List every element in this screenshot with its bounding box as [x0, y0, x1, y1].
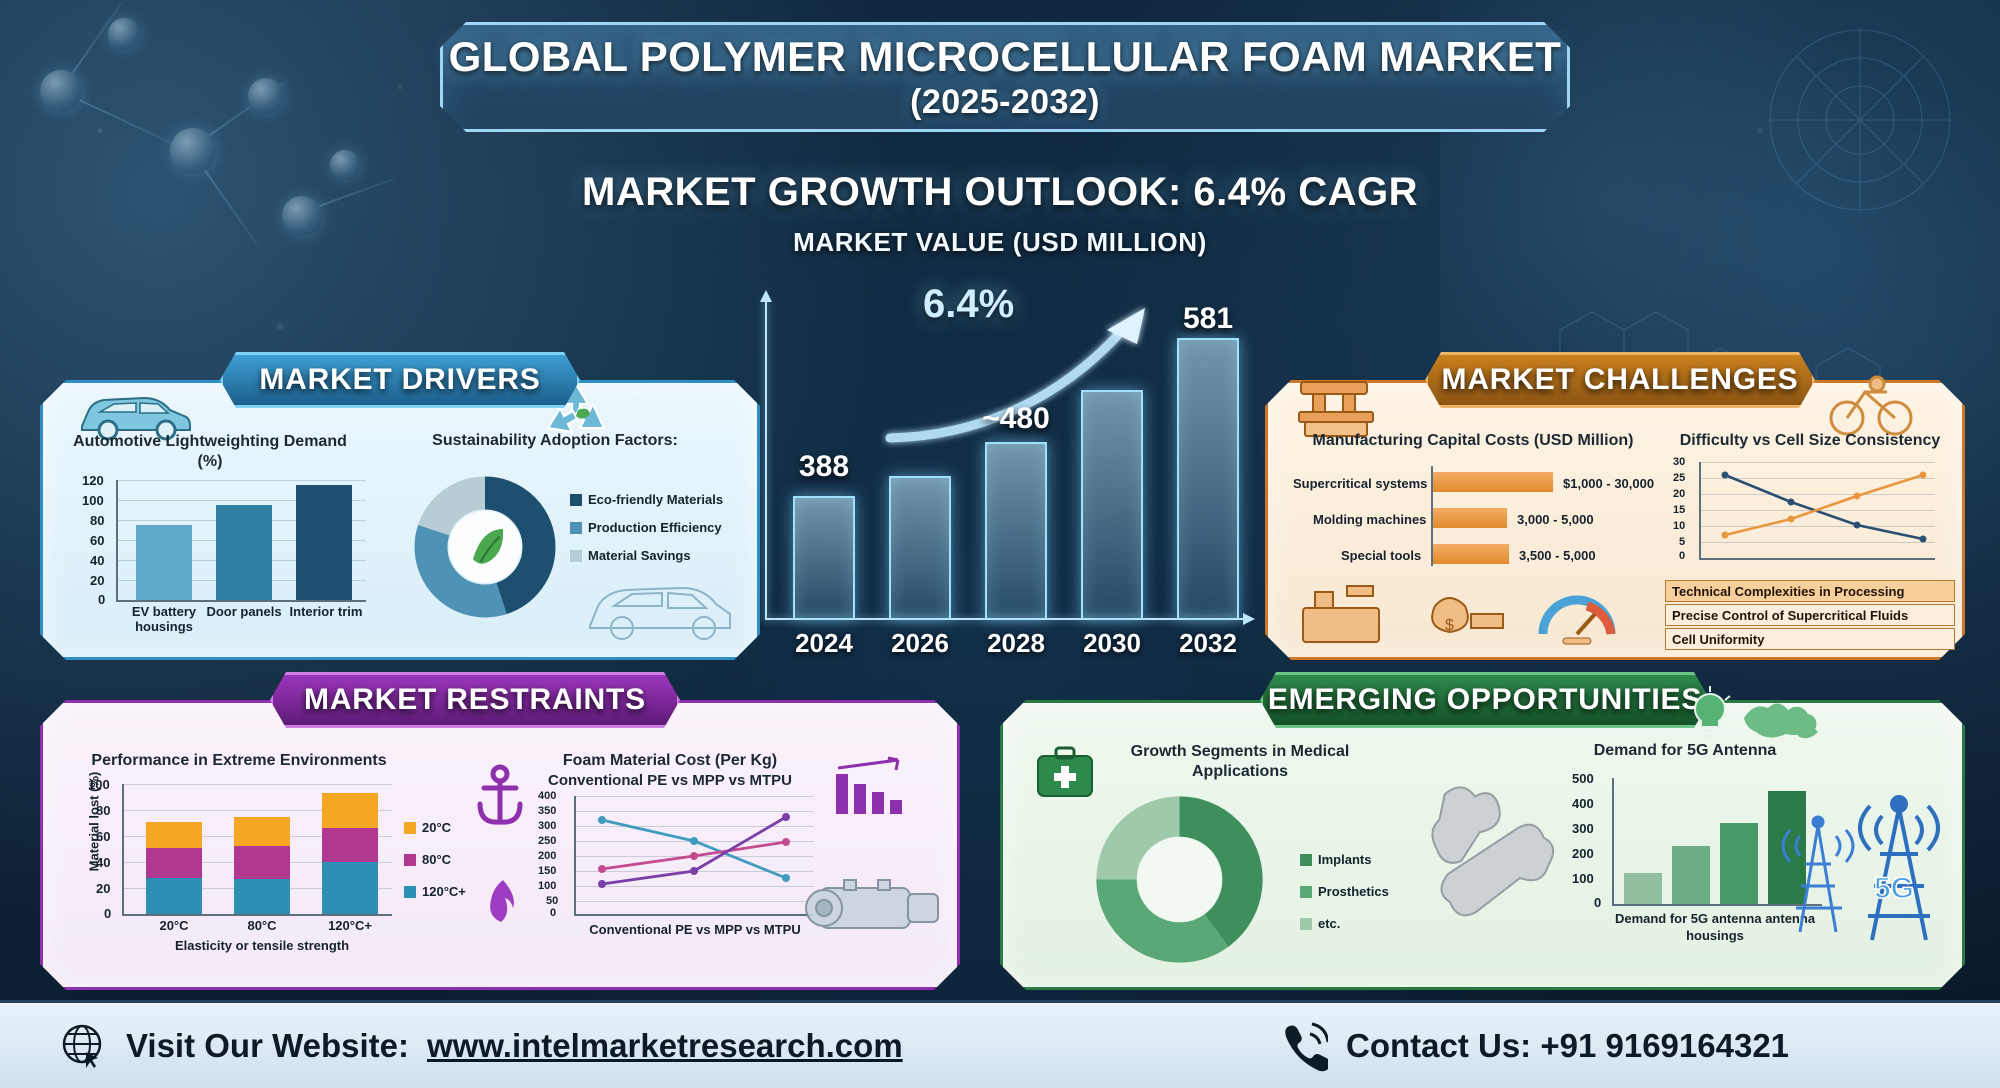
- anchor-icon: [470, 762, 530, 832]
- legend-etc: etc.: [1300, 916, 1340, 931]
- automotive-x-axis: [116, 600, 366, 602]
- footer-website-label: Visit Our Website:: [126, 1027, 409, 1065]
- foam-cost-line-chart: 400 350 300 250 200 150 100 50 0 Convent…: [530, 796, 830, 946]
- difficulty-chart-title: Difficulty vs Cell Size Consistency: [1665, 432, 1955, 450]
- bar-value-2032: 581: [1148, 302, 1268, 336]
- ytick-300: 300: [538, 820, 556, 832]
- legend-swatch-etc: [1300, 918, 1312, 930]
- ytick-80: 80: [96, 803, 110, 818]
- globe-icon: [60, 1022, 108, 1070]
- medical-kit-icon: [1034, 744, 1096, 800]
- foam-cost-chart-subtitle: Conventional PE vs MPP vs MTPU: [530, 772, 810, 789]
- bar-2030: [1081, 390, 1143, 618]
- stacked-column-20c: [146, 784, 202, 914]
- catlabel-special-tools: Special tools: [1341, 548, 1421, 563]
- bar-value-2028: ~480: [956, 402, 1076, 436]
- value-supercritical-systems: $1,000 - 30,000: [1563, 476, 1654, 491]
- legend-label-80c: 80°C: [422, 852, 451, 867]
- market-drivers-panel: MARKET DRIVERS Automotive Lightweighting…: [40, 380, 760, 660]
- growth-outlook-headline: MARKET GROWTH OUTLOOK: 6.4% CAGR: [480, 170, 1520, 215]
- opportunities-banner-label: EMERGING OPPORTUNITIES: [1268, 683, 1702, 717]
- ytick-250: 250: [538, 835, 556, 847]
- page-title-line-1: GLOBAL POLYMER MICROCELLULAR FOAM MARKET: [440, 32, 1570, 82]
- gridline: [118, 480, 366, 481]
- x-label-2032: 2032: [1158, 628, 1258, 659]
- drivers-banner: MARKET DRIVERS: [220, 352, 580, 408]
- ytick-50: 50: [546, 895, 558, 907]
- ytick-20: 20: [96, 881, 110, 896]
- bone-scaffold-icon: [1400, 770, 1580, 950]
- difficulty-line-chart: 30 25 20 15 10 5 0: [1665, 462, 1955, 577]
- footer-bar: Visit Our Website: www.intelmarketresear…: [0, 1000, 2000, 1088]
- page-title-line-2: (2025-2032): [440, 82, 1570, 122]
- ytick-100: 100: [82, 493, 104, 508]
- opportunities-banner: EMERGING OPPORTUNITIES: [1260, 672, 1710, 728]
- globe-map-icon: [1740, 688, 1830, 746]
- market-restraints-panel: MARKET RESTRAINTS Performance in Extreme…: [40, 700, 960, 990]
- extreme-env-y-axis: [122, 784, 124, 914]
- car-chassis-icon: [580, 570, 740, 650]
- foam-cost-chart-title: Foam Material Cost (Per Kg): [530, 752, 810, 770]
- ytick-350: 350: [538, 805, 556, 817]
- lightbulb-icon: [1680, 684, 1740, 746]
- bar-2028: [985, 442, 1047, 618]
- capital-costs-chart-title: Manufacturing Capital Costs (USD Million…: [1283, 432, 1663, 450]
- gauge-icon: [1543, 600, 1611, 644]
- legend-swatch-120c: [404, 886, 416, 898]
- extreme-env-chart-title: Performance in Extreme Environments: [64, 752, 414, 770]
- drivers-banner-label: MARKET DRIVERS: [259, 363, 540, 397]
- challenges-banner: MARKET CHALLENGES: [1425, 352, 1815, 408]
- legend-swatch-80c: [404, 854, 416, 866]
- automotive-chart-title: Automotive Lightweighting Demand (%): [60, 432, 360, 472]
- bar-ev-battery-housings: [136, 525, 192, 600]
- legend-swatch-prosthetics: [1300, 886, 1312, 898]
- ytick-0: 0: [1679, 550, 1685, 562]
- legend-eco-friendly-materials: Eco-friendly Materials: [570, 492, 723, 507]
- ytick-20: 20: [90, 573, 104, 588]
- bar-5g-3: [1720, 823, 1758, 904]
- legend-120c: 120°C+: [404, 884, 466, 899]
- seg-80c-top: [234, 817, 290, 847]
- market-challenges-panel: MARKET CHALLENGES Manufacturing Capital …: [1265, 380, 1965, 660]
- seg-120c-base: [322, 862, 378, 914]
- foam-cost-xlabel: Conventional PE vs MPP vs MTPU: [570, 922, 820, 937]
- ytick-200: 200: [1572, 846, 1594, 861]
- catlabel-interior-trim: Interior trim: [286, 604, 366, 619]
- demand-5g-chart-title: Demand for 5G Antenna: [1560, 742, 1810, 760]
- footer-contact-group[interactable]: Contact Us: +91 9169164321: [1280, 1020, 1789, 1072]
- stacked-column-80c: [234, 784, 290, 914]
- page-title-banner: GLOBAL POLYMER MICROCELLULAR FOAM MARKET…: [440, 22, 1570, 132]
- capital-costs-bar-chart: Supercritical systems Molding machines S…: [1283, 466, 1683, 576]
- molecule-decoration-left: [0, 0, 430, 330]
- legend-swatch-implants: [1300, 854, 1312, 866]
- market-value-bar-chart: 6.4% 388 ~480 581 2024 2026 2028 2030 20…: [745, 290, 1255, 650]
- challenges-banner-label: MARKET CHALLENGES: [1442, 363, 1799, 397]
- legend-swatch-savings: [570, 550, 582, 562]
- bar-door-panels: [216, 505, 272, 600]
- ytick-10: 10: [1673, 520, 1685, 532]
- seg-80c-base: [234, 879, 290, 914]
- challenge-tag-label-1: Precise Control of Supercritical Fluids: [1672, 608, 1908, 623]
- seg-120c-mid: [322, 828, 378, 862]
- catlabel-20c: 20°C: [144, 918, 204, 933]
- ytick-150: 150: [538, 865, 556, 877]
- foam-cost-series-svg: [574, 796, 814, 916]
- challenge-tag-technical-complexities: Technical Complexities in Processing: [1665, 580, 1955, 602]
- x-label-2030: 2030: [1062, 628, 1162, 659]
- legend-prosthetics: Prosthetics: [1300, 884, 1389, 899]
- legend-20c: 20°C: [404, 820, 451, 835]
- seg-80c-mid: [234, 846, 290, 879]
- ytick-30: 30: [1673, 456, 1685, 468]
- challenge-icon-row: $: [1295, 580, 1635, 650]
- difficulty-series-svg: [1699, 462, 1939, 562]
- medical-growth-donut-chart: [1092, 792, 1267, 967]
- automotive-chart-title-text: Automotive Lightweighting Demand (%): [73, 433, 347, 470]
- machine-part-icon: [800, 860, 950, 950]
- seg-120c-top: [322, 793, 378, 828]
- ytick-25: 25: [1673, 472, 1685, 484]
- catlabel-80c: 80°C: [232, 918, 292, 933]
- ytick-0: 0: [1594, 895, 1601, 910]
- xlabel-elasticity: Elasticity or tensile strength: [122, 938, 402, 953]
- bar-2032: [1177, 338, 1239, 618]
- automotive-bar-chart: 120 100 80 60 40 20 0 EV battery housing…: [60, 480, 370, 630]
- hero-heading-group: MARKET GROWTH OUTLOOK: 6.4% CAGR MARKET …: [480, 170, 1520, 258]
- x-label-2024: 2024: [774, 628, 874, 659]
- catlabel-ev-battery-housings: EV battery housings: [122, 604, 206, 634]
- demand-5g-y-axis: [1612, 778, 1614, 904]
- legend-label-prosthetics: Prosthetics: [1318, 884, 1389, 899]
- ytick-60: 60: [96, 829, 110, 844]
- legend-material-savings: Material Savings: [570, 548, 691, 563]
- challenge-tag-precise-control: Precise Control of Supercritical Fluids: [1665, 604, 1955, 626]
- legend-implants: Implants: [1300, 852, 1371, 867]
- ytick-0: 0: [98, 592, 105, 607]
- ytick-60: 60: [90, 533, 104, 548]
- value-molding-machines: 3,000 - 5,000: [1517, 512, 1594, 527]
- restraints-banner-label: MARKET RESTRAINTS: [304, 683, 646, 717]
- legend-production-efficiency: Production Efficiency: [570, 520, 722, 535]
- legend-swatch-eco: [570, 494, 582, 506]
- ytick-400: 400: [538, 790, 556, 802]
- ytick-0: 0: [104, 906, 111, 921]
- chart-x-axis: [765, 618, 1245, 620]
- 5g-label: 5G: [1874, 872, 1914, 905]
- seg-20c-mid: [146, 848, 202, 878]
- medical-growth-chart-title-text: Growth Segments in Medical Applications: [1131, 743, 1350, 780]
- catlabel-door-panels: Door panels: [204, 604, 284, 619]
- challenge-tag-label-0: Technical Complexities in Processing: [1672, 584, 1904, 599]
- seg-20c-base: [146, 878, 202, 914]
- bar-2026: [889, 476, 951, 618]
- sustainability-chart-title: Sustainability Adoption Factors:: [390, 432, 720, 450]
- sustainability-donut-chart: [410, 472, 560, 622]
- footer-contact-text: Contact Us: +91 9169164321: [1346, 1027, 1789, 1065]
- catlabel-molding-machines: Molding machines: [1313, 512, 1426, 527]
- ytick-15: 15: [1673, 504, 1685, 516]
- ytick-300: 300: [1572, 821, 1594, 836]
- medical-growth-chart-title: Growth Segments in Medical Applications: [1115, 742, 1365, 782]
- ytick-100: 100: [88, 777, 110, 792]
- ytick-5: 5: [1679, 536, 1685, 548]
- machine-press-icon: [1291, 374, 1387, 440]
- catlabel-120c: 120°C+: [318, 918, 382, 933]
- legend-label-implants: Implants: [1318, 852, 1371, 867]
- emerging-opportunities-panel: EMERGING OPPORTUNITIES Growth Segments i…: [1000, 700, 1965, 990]
- extreme-env-stacked-chart: Material lost (%) 100 80 60 40 20 0: [64, 784, 444, 964]
- ytick-40: 40: [90, 553, 104, 568]
- bar-value-2024: 388: [764, 450, 884, 484]
- bar-5g-2: [1672, 846, 1710, 904]
- svg-text:$: $: [1445, 617, 1454, 634]
- seg-20c-top: [146, 822, 202, 848]
- hbar-special-tools: [1433, 544, 1509, 564]
- catlabel-supercritical-systems: Supercritical systems: [1293, 476, 1427, 491]
- extreme-env-x-axis: [122, 914, 392, 916]
- cagr-annotation: 6.4%: [923, 282, 1014, 327]
- ytick-100: 100: [1572, 871, 1594, 886]
- ytick-0: 0: [550, 907, 556, 919]
- challenge-tag-label-2: Cell Uniformity: [1672, 632, 1764, 647]
- bar-5g-1: [1624, 873, 1662, 905]
- declining-chart-icon: [830, 754, 910, 824]
- legend-label-eco: Eco-friendly Materials: [588, 492, 723, 507]
- legend-swatch-20c: [404, 822, 416, 834]
- bicycle-gear-icon: [1825, 370, 1917, 440]
- restraints-banner: MARKET RESTRAINTS: [270, 672, 680, 728]
- ytick-100: 100: [538, 880, 556, 892]
- market-value-subhead: MARKET VALUE (USD MILLION): [480, 227, 1520, 258]
- legend-label-120c: 120°C+: [422, 884, 466, 899]
- ytick-200: 200: [538, 850, 556, 862]
- flame-icon: [476, 876, 530, 942]
- antenna-tower-5g-icon: 5G: [1760, 786, 1950, 956]
- legend-80c: 80°C: [404, 852, 451, 867]
- x-label-2026: 2026: [870, 628, 970, 659]
- legend-label-20c: 20°C: [422, 820, 451, 835]
- hbar-molding-machines: [1433, 508, 1507, 528]
- ytick-40: 40: [96, 855, 110, 870]
- value-special-tools: 3,500 - 5,000: [1519, 548, 1596, 563]
- legend-swatch-production: [570, 522, 582, 534]
- legend-label-savings: Material Savings: [588, 548, 691, 563]
- ytick-400: 400: [1572, 796, 1594, 811]
- footer-website-group[interactable]: Visit Our Website: www.intelmarketresear…: [60, 1022, 903, 1070]
- ytick-20: 20: [1673, 488, 1685, 500]
- stacked-column-120c: [322, 784, 378, 914]
- bar-2024: [793, 496, 855, 618]
- x-label-2028: 2028: [966, 628, 1066, 659]
- challenge-tag-cell-uniformity: Cell Uniformity: [1665, 628, 1955, 650]
- footer-website-link[interactable]: www.intelmarketresearch.com: [427, 1027, 903, 1065]
- phone-icon: [1280, 1020, 1328, 1072]
- bar-interior-trim: [296, 485, 352, 600]
- legend-label-production: Production Efficiency: [588, 520, 722, 535]
- legend-label-etc: etc.: [1318, 916, 1340, 931]
- ytick-80: 80: [90, 513, 104, 528]
- hbar-supercritical-systems: [1433, 472, 1553, 492]
- ytick-120: 120: [82, 473, 104, 488]
- ytick-500: 500: [1572, 771, 1594, 786]
